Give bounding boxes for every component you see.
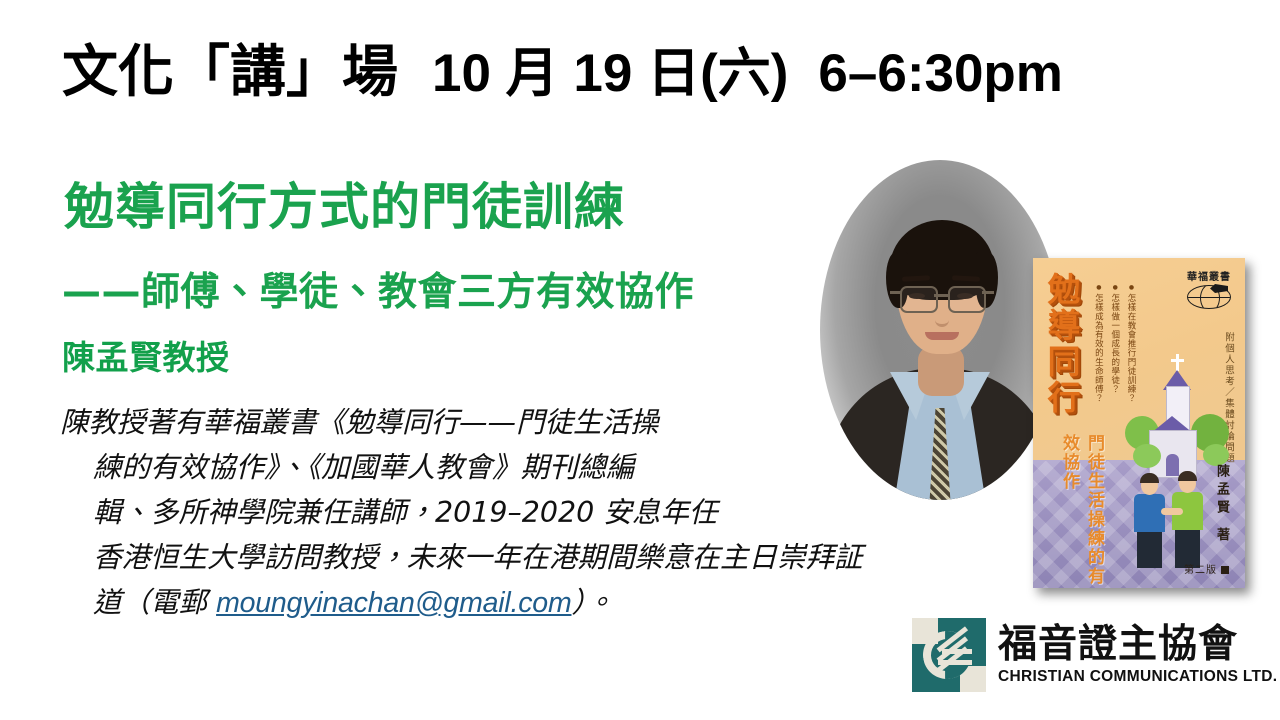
event-time: 6–6:30pm <box>818 47 1063 100</box>
speaker-name: 陳孟賢教授 <box>62 340 230 376</box>
book-series-label: 華福叢書 <box>1187 268 1231 283</box>
glasses-bridge <box>934 294 948 297</box>
book-edition: 第二版 <box>1184 561 1229 576</box>
event-date: 10 月 19 日(六) <box>432 47 788 100</box>
glasses-temple-left <box>890 291 902 294</box>
tree-icon <box>1203 444 1229 466</box>
publisher-name-chinese: 福音證主協會 <box>998 625 1277 666</box>
book-bullet-list: 怎樣在教會推行門徒訓練？ 怎樣做一個成長的學徒？ 怎樣成為有效的生命師傅？ <box>1093 284 1135 403</box>
logo-bar <box>938 660 972 665</box>
book-cover: 勉導同行 門徒生活操練的有效協作 怎樣在教會推行門徒訓練？ 怎樣做一個成長的學徒… <box>1033 258 1245 588</box>
person-mentor-legs <box>1137 530 1162 568</box>
church-door <box>1166 454 1179 476</box>
email-link[interactable]: moungyinachan@gmail.com <box>216 587 571 619</box>
book-bullet: 怎樣做一個成長的學徒？ <box>1109 284 1118 403</box>
person-mentee-hair <box>1178 471 1197 481</box>
bio-email-suffix: ）。 <box>571 586 614 619</box>
logo-bar <box>942 649 972 654</box>
book-title: 勉導同行 <box>1045 272 1078 416</box>
edition-square-icon <box>1221 566 1229 574</box>
book-bullet: 怎樣在教會推行門徒訓練？ <box>1126 284 1135 403</box>
portrait-nose <box>935 306 949 327</box>
bio-email-prefix: 道（電郵 <box>93 586 216 619</box>
publisher-name-english: CHRISTIAN COMMUNICATIONS LTD. <box>998 668 1277 685</box>
portrait-image <box>820 160 1060 500</box>
publisher-logo: 福音證主協會 CHRISTIAN COMMUNICATIONS LTD. <box>912 612 1262 698</box>
bio-line-email: 道（電郵 moungyinachan@gmail.com）。 <box>60 580 990 626</box>
cross-icon <box>1176 354 1179 371</box>
poster-canvas: 文化「講」場 10 月 19 日(六) 6–6:30pm 勉導同行方式的門徒訓練… <box>0 0 1280 720</box>
book-author: 陳孟賢 著 <box>1212 464 1231 546</box>
event-headline: 文化「講」場 10 月 19 日(六) 6–6:30pm <box>62 36 1222 110</box>
book-bullet: 怎樣成為有效的生命師傅？ <box>1093 284 1102 403</box>
tree-icon <box>1133 444 1161 468</box>
glasses-temple-right <box>982 291 994 294</box>
talk-subtitle: ——師傅、學徒、教會三方有效協作 <box>62 272 694 314</box>
handshake-arms <box>1161 508 1183 515</box>
cross-icon <box>1171 359 1184 362</box>
bio-line: 香港恒生大學訪問教授，未來一年在港期間樂意在主日崇拜証 <box>60 535 990 580</box>
glasses-icon <box>900 286 938 313</box>
glasses-icon <box>948 286 986 313</box>
person-mentor-hair <box>1140 473 1159 483</box>
ccl-logo-icon <box>912 618 986 692</box>
book-edition-label: 第二版 <box>1184 565 1217 576</box>
speaker-portrait <box>820 160 1060 500</box>
book-subtitle: 門徒生活操練的有效協作 <box>1057 434 1107 588</box>
publisher-logo-text: 福音證主協會 CHRISTIAN COMMUNICATIONS LTD. <box>998 625 1277 685</box>
talk-title: 勉導同行方式的門徒訓練 <box>64 180 625 234</box>
portrait-mouth <box>925 332 959 340</box>
series-label: 文化「講」場 <box>62 45 398 101</box>
